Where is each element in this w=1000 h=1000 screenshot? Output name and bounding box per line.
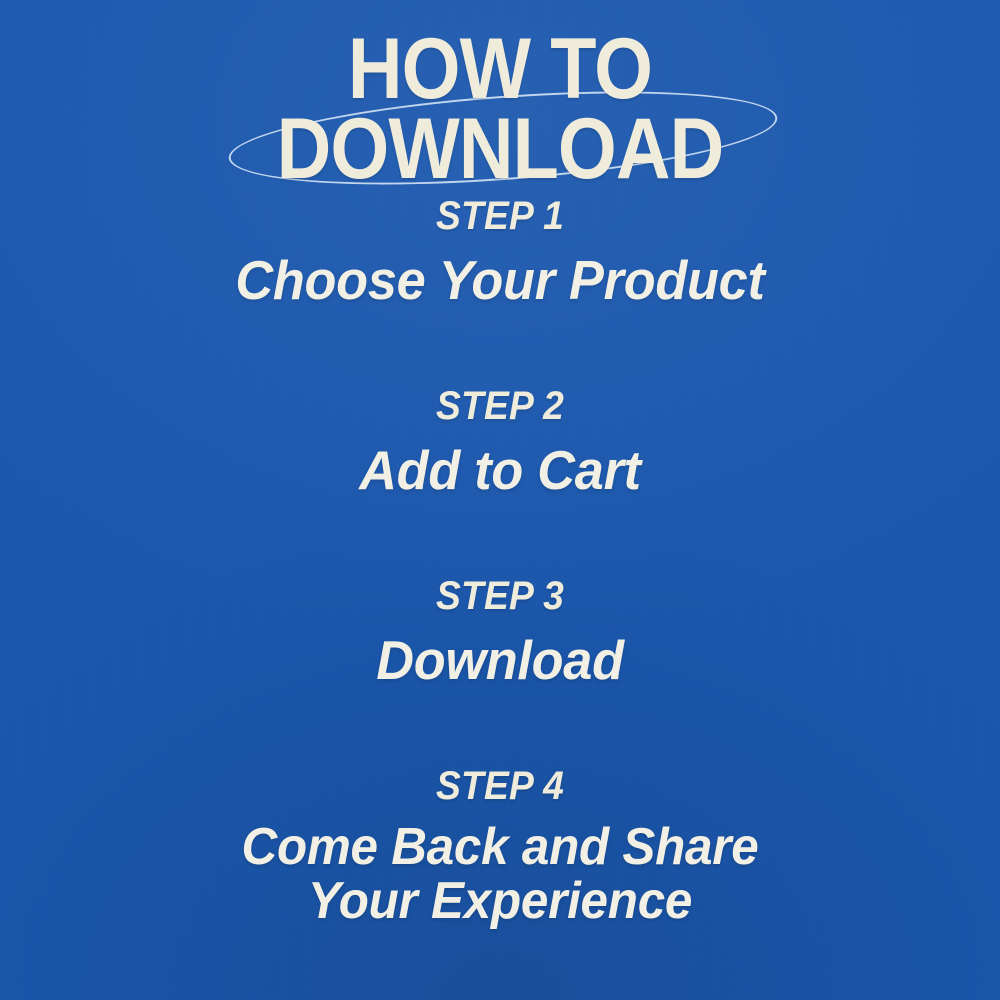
step-label-3: STEP 3 [35,576,965,616]
title-line-1: HOW TO [60,32,940,108]
step-description-3: Download [25,632,975,688]
title-line-2: DOWNLOAD [60,112,940,188]
step-item-4: STEP 4 Come Back and Share Your Experien… [0,766,1000,956]
step-label-2: STEP 2 [35,386,965,426]
how-to-download-poster: HOW TO DOWNLOAD STEP 1 Choose Your Produ… [0,0,1000,1000]
step-description-1: Choose Your Product [25,252,975,308]
step-item-2: STEP 2 Add to Cart [0,386,1000,576]
step-label-1: STEP 1 [35,196,965,236]
steps-list: STEP 1 Choose Your Product STEP 2 Add to… [0,196,1000,956]
step-item-3: STEP 3 Download [0,576,1000,766]
page-title: HOW TO DOWNLOAD [0,32,1000,187]
step-description-4: Come Back and Share Your Experience [25,820,975,928]
step-item-1: STEP 1 Choose Your Product [0,196,1000,386]
step-label-4: STEP 4 [35,766,965,806]
step-description-2: Add to Cart [25,442,975,498]
